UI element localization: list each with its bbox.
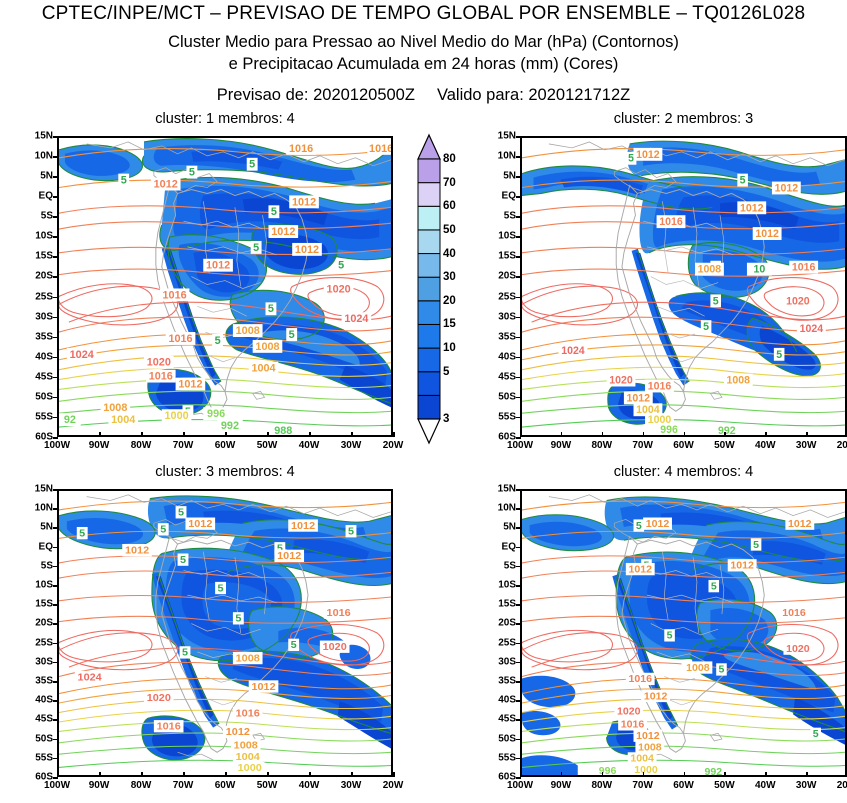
x-tick-mark (267, 772, 269, 777)
colorbar-band-80 (418, 159, 440, 183)
svg-text:1016: 1016 (149, 371, 173, 383)
y-tick-label-cluster-3-14: 55S (21, 752, 53, 763)
y-tick-mark (53, 176, 58, 178)
y-tick-label-cluster-1-6: 15S (21, 251, 53, 262)
y-tick-label-cluster-2-8: 25S (484, 291, 516, 302)
y-tick-label-cluster-2-0: 15N (484, 131, 516, 142)
x-tick-label-cluster-1-3: 70W (173, 440, 194, 451)
x-tick-label-cluster-1-0: 100W (44, 440, 70, 451)
y-tick-mark (516, 758, 521, 760)
svg-text:5: 5 (713, 295, 719, 307)
colorbar-band-30 (418, 277, 440, 301)
y-tick-label-cluster-2-3: EQ (484, 191, 516, 202)
x-tick-mark (520, 772, 522, 777)
subtitle-line-1: Cluster Medio para Pressao ao Nivel Medi… (168, 33, 679, 52)
svg-text:1008: 1008 (103, 402, 127, 414)
svg-text:1012: 1012 (277, 550, 301, 562)
svg-text:5: 5 (249, 159, 255, 171)
y-tick-label-cluster-1-0: 15N (21, 131, 53, 142)
svg-text:5: 5 (182, 647, 188, 659)
svg-text:1020: 1020 (786, 295, 810, 307)
colorbar-tick-40: 40 (443, 248, 456, 260)
y-tick-label-cluster-2-14: 55S (484, 411, 516, 422)
y-tick-label-cluster-3-6: 15S (21, 599, 53, 610)
y-tick-mark (516, 547, 521, 549)
y-tick-mark (53, 377, 58, 379)
y-tick-label-cluster-4-8: 25S (484, 637, 516, 648)
x-tick-mark (684, 432, 686, 437)
svg-text:1016: 1016 (782, 608, 806, 619)
svg-text:1020: 1020 (609, 374, 633, 386)
svg-text:1016: 1016 (628, 674, 652, 685)
x-tick-label-cluster-3-1: 90W (89, 780, 110, 791)
panel-caption-cluster-1: cluster: 1 membros: 4 (57, 111, 393, 127)
svg-text:5: 5 (215, 335, 221, 347)
x-tick-mark (141, 432, 143, 437)
colorbar-tick-15: 15 (443, 318, 456, 330)
svg-text:5: 5 (253, 242, 259, 254)
colorbar-tick-60: 60 (443, 200, 456, 212)
svg-text:5: 5 (776, 349, 782, 361)
y-tick-label-cluster-2-11: 40S (484, 351, 516, 362)
svg-text:996: 996 (660, 424, 678, 435)
colorbar-tick-20: 20 (443, 295, 456, 307)
y-tick-label-cluster-2-5: 10S (484, 231, 516, 242)
x-tick-mark (684, 772, 686, 777)
x-tick-mark (225, 772, 227, 777)
svg-text:1020: 1020 (327, 283, 351, 295)
svg-text:5: 5 (348, 526, 354, 538)
valid-for-label: Valido para: 2020121712Z (437, 86, 630, 104)
svg-text:1016: 1016 (369, 143, 391, 155)
x-tick-mark (351, 772, 353, 777)
y-tick-mark (516, 681, 521, 683)
x-tick-label-cluster-3-8: 20W (383, 780, 404, 791)
x-tick-mark (765, 432, 767, 437)
svg-text:992: 992 (704, 767, 722, 775)
x-tick-mark (309, 432, 311, 437)
svg-text:1012: 1012 (295, 244, 319, 256)
y-tick-mark (53, 662, 58, 664)
svg-text:1016: 1016 (621, 720, 645, 731)
svg-text:1016: 1016 (648, 380, 672, 392)
y-tick-label-cluster-1-14: 55S (21, 411, 53, 422)
y-tick-mark (516, 700, 521, 702)
svg-text:1008: 1008 (255, 341, 279, 353)
y-tick-mark (53, 585, 58, 587)
svg-text:1012: 1012 (154, 178, 178, 190)
y-tick-mark (516, 489, 521, 491)
svg-text:5: 5 (235, 613, 241, 625)
y-tick-label-cluster-3-12: 45S (21, 714, 53, 725)
x-tick-mark (99, 772, 101, 777)
svg-text:1008: 1008 (698, 264, 722, 276)
colorbar-band-3 (418, 395, 440, 419)
plot-panel-cluster-1[interactable]: 5 5 5 5 5 5 5 5 5 5 1016 1016 1012 1012 … (57, 136, 393, 437)
y-tick-label-cluster-1-7: 20S (21, 271, 53, 282)
colorbar-band-60 (418, 206, 440, 230)
y-tick-mark (53, 357, 58, 359)
svg-text:1012: 1012 (788, 519, 812, 530)
svg-text:92: 92 (64, 414, 76, 426)
svg-text:1012: 1012 (646, 519, 670, 530)
y-tick-mark (53, 397, 58, 399)
svg-text:1008: 1008 (236, 325, 260, 337)
y-tick-mark (516, 276, 521, 278)
x-tick-mark (393, 432, 395, 437)
y-tick-mark (53, 758, 58, 760)
y-tick-mark (53, 681, 58, 683)
y-tick-label-cluster-3-7: 20S (21, 618, 53, 629)
svg-text:1012: 1012 (636, 149, 660, 161)
svg-text:1008: 1008 (234, 740, 258, 752)
svg-text:1012: 1012 (188, 518, 212, 530)
y-tick-mark (53, 437, 58, 439)
y-tick-mark (516, 357, 521, 359)
x-tick-label-cluster-3-4: 60W (215, 780, 236, 791)
x-tick-mark (643, 772, 645, 777)
svg-text:5: 5 (667, 631, 673, 642)
svg-text:5: 5 (271, 206, 277, 218)
y-tick-label-cluster-4-10: 35S (484, 676, 516, 687)
y-tick-mark (516, 377, 521, 379)
y-tick-label-cluster-3-9: 30S (21, 656, 53, 667)
svg-text:5: 5 (121, 175, 127, 187)
y-tick-mark (53, 156, 58, 158)
x-tick-label-cluster-1-4: 60W (215, 440, 236, 451)
x-tick-mark (183, 772, 185, 777)
colorbar-band-10 (418, 348, 440, 372)
svg-text:1020: 1020 (617, 706, 641, 717)
svg-text:1024: 1024 (70, 349, 94, 361)
x-tick-mark (183, 432, 185, 437)
svg-text:5: 5 (753, 540, 759, 551)
panel-caption-cluster-4: cluster: 4 membros: 4 (520, 464, 847, 480)
svg-text:1008: 1008 (638, 742, 662, 753)
x-tick-mark (724, 432, 726, 437)
svg-text:5: 5 (628, 153, 634, 165)
page-title: CPTEC/INPE/MCT – PREVISAO DE TEMPO GLOBA… (42, 3, 805, 25)
colorbar-tick-70: 70 (443, 177, 456, 189)
x-tick-label-cluster-4-7: 30W (796, 780, 817, 791)
y-tick-mark (53, 700, 58, 702)
x-tick-mark (561, 772, 563, 777)
x-tick-mark (309, 772, 311, 777)
y-tick-label-cluster-4-5: 10S (484, 580, 516, 591)
y-tick-label-cluster-2-9: 30S (484, 311, 516, 322)
x-tick-label-cluster-4-5: 50W (714, 780, 735, 791)
x-tick-label-cluster-2-6: 40W (755, 440, 776, 451)
svg-text:992: 992 (718, 425, 736, 435)
y-tick-label-cluster-3-3: EQ (21, 541, 53, 552)
svg-text:5: 5 (180, 554, 186, 566)
x-tick-label-cluster-2-7: 30W (796, 440, 817, 451)
y-tick-label-cluster-4-2: 5N (484, 522, 516, 533)
y-tick-mark (53, 196, 58, 198)
svg-text:1016: 1016 (659, 216, 683, 228)
y-tick-mark (53, 719, 58, 721)
y-tick-label-cluster-3-0: 15N (21, 484, 53, 495)
svg-text:1004: 1004 (236, 751, 260, 763)
y-tick-mark (53, 566, 58, 568)
svg-text:1016: 1016 (163, 289, 187, 301)
x-tick-label-cluster-1-1: 90W (89, 440, 110, 451)
y-tick-mark (516, 643, 521, 645)
x-tick-label-cluster-4-1: 90W (551, 780, 572, 791)
x-tick-label-cluster-1-2: 80W (131, 440, 152, 451)
svg-text:1012: 1012 (271, 226, 295, 238)
x-tick-mark (393, 772, 395, 777)
svg-text:996: 996 (207, 408, 225, 420)
y-tick-label-cluster-2-12: 45S (484, 371, 516, 382)
y-tick-label-cluster-3-5: 10S (21, 580, 53, 591)
y-tick-mark (53, 604, 58, 606)
x-tick-label-cluster-4-0: 100W (507, 780, 533, 791)
x-tick-label-cluster-2-5: 50W (714, 440, 735, 451)
x-tick-label-cluster-3-3: 70W (173, 780, 194, 791)
x-tick-mark (57, 432, 59, 437)
colorbar-band-40 (418, 254, 440, 278)
x-tick-label-cluster-4-3: 70W (632, 780, 653, 791)
svg-text:5: 5 (636, 521, 642, 532)
svg-text:1000: 1000 (238, 762, 262, 774)
x-tick-label-cluster-3-2: 80W (131, 780, 152, 791)
y-tick-mark (53, 508, 58, 510)
svg-text:1012: 1012 (740, 202, 764, 214)
y-tick-label-cluster-3-1: 10N (21, 503, 53, 514)
svg-text:5: 5 (719, 665, 725, 676)
x-tick-label-cluster-2-3: 70W (632, 440, 653, 451)
svg-text:1020: 1020 (786, 644, 810, 655)
y-tick-mark (53, 527, 58, 529)
svg-text:1012: 1012 (775, 182, 799, 194)
y-tick-mark (516, 216, 521, 218)
x-tick-mark (141, 772, 143, 777)
svg-text:5: 5 (268, 303, 274, 315)
y-tick-label-cluster-2-7: 20S (484, 271, 516, 282)
svg-text:992: 992 (221, 420, 239, 432)
svg-text:5: 5 (79, 528, 85, 540)
y-tick-label-cluster-3-13: 50S (21, 733, 53, 744)
svg-text:5: 5 (291, 639, 297, 651)
colorbar-band-15 (418, 324, 440, 348)
svg-text:1012: 1012 (125, 545, 149, 557)
svg-text:1012: 1012 (251, 681, 275, 693)
y-tick-label-cluster-3-4: 5S (21, 560, 53, 571)
y-tick-mark (53, 739, 58, 741)
y-tick-label-cluster-1-13: 50S (21, 391, 53, 402)
panel-caption-cluster-3: cluster: 3 membros: 4 (57, 464, 393, 480)
y-tick-mark (53, 136, 58, 138)
y-tick-label-cluster-3-10: 35S (21, 676, 53, 687)
y-tick-label-cluster-3-8: 25S (21, 637, 53, 648)
y-tick-mark (516, 297, 521, 299)
x-tick-mark (643, 432, 645, 437)
y-tick-mark (53, 489, 58, 491)
x-tick-label-cluster-2-4: 60W (673, 440, 694, 451)
y-tick-mark (516, 397, 521, 399)
svg-text:1004: 1004 (111, 414, 135, 426)
forecast-dates: Previsao de: 2020120500ZValido para: 202… (217, 86, 630, 105)
y-tick-mark (516, 417, 521, 419)
y-tick-label-cluster-1-8: 25S (21, 291, 53, 302)
y-tick-label-cluster-4-1: 10N (484, 503, 516, 514)
y-tick-label-cluster-2-2: 5N (484, 171, 516, 182)
svg-text:1016: 1016 (289, 143, 313, 155)
y-tick-label-cluster-1-11: 40S (21, 351, 53, 362)
y-tick-label-cluster-1-2: 5N (21, 171, 53, 182)
x-tick-mark (225, 432, 227, 437)
x-tick-label-cluster-1-5: 50W (257, 440, 278, 451)
svg-text:1012: 1012 (206, 260, 230, 272)
x-tick-mark (351, 432, 353, 437)
colorbar-tick-10: 10 (443, 342, 456, 354)
x-tick-mark (765, 772, 767, 777)
y-tick-mark (516, 739, 521, 741)
y-tick-label-cluster-1-1: 10N (21, 151, 53, 162)
colorbar[interactable]: 51015203040506070803 (415, 133, 485, 445)
x-tick-mark (267, 432, 269, 437)
x-tick-mark (99, 432, 101, 437)
y-tick-label-cluster-1-10: 35S (21, 331, 53, 342)
y-tick-mark (516, 566, 521, 568)
x-tick-label-cluster-3-5: 50W (257, 780, 278, 791)
y-tick-mark (53, 417, 58, 419)
svg-text:5: 5 (711, 582, 717, 593)
y-tick-label-cluster-2-10: 35S (484, 331, 516, 342)
colorbar-band-50 (418, 230, 440, 254)
x-tick-mark (602, 432, 604, 437)
x-tick-mark (57, 772, 59, 777)
y-tick-mark (516, 623, 521, 625)
x-tick-label-cluster-3-6: 40W (299, 780, 320, 791)
y-tick-mark (516, 136, 521, 138)
x-tick-label-cluster-3-0: 100W (44, 780, 70, 791)
y-tick-mark (53, 216, 58, 218)
svg-text:1020: 1020 (323, 641, 347, 653)
svg-text:1012: 1012 (755, 228, 779, 240)
y-tick-label-cluster-1-5: 10S (21, 231, 53, 242)
colorbar-tick-bottom: 3 (443, 413, 449, 425)
y-tick-mark (516, 176, 521, 178)
x-tick-mark (602, 772, 604, 777)
x-tick-label-cluster-2-0: 100W (507, 440, 533, 451)
svg-text:1012: 1012 (627, 392, 651, 404)
y-tick-mark (53, 337, 58, 339)
y-tick-label-cluster-1-4: 5S (21, 211, 53, 222)
plot-panel-cluster-2[interactable]: 5 5 5 10 5 5 5 1012 1012 1016 1012 1012 … (520, 136, 847, 437)
y-tick-label-cluster-4-12: 45S (484, 714, 516, 725)
svg-text:5: 5 (218, 583, 224, 595)
plot-panel-cluster-3[interactable]: 5 5 5 5 5 5 5 5 5 5 1012 1012 1012 1012 … (57, 489, 393, 777)
y-tick-mark (516, 777, 521, 779)
y-tick-label-cluster-1-9: 30S (21, 311, 53, 322)
y-tick-label-cluster-4-3: EQ (484, 541, 516, 552)
colorbar-tick-5: 5 (443, 366, 449, 378)
panel-caption-cluster-2: cluster: 2 membros: 3 (520, 111, 847, 127)
y-tick-mark (516, 662, 521, 664)
x-tick-mark (561, 432, 563, 437)
x-tick-mark (806, 432, 808, 437)
y-tick-mark (53, 643, 58, 645)
y-tick-mark (53, 256, 58, 258)
svg-text:10: 10 (754, 264, 766, 276)
y-tick-mark (516, 527, 521, 529)
x-tick-label-cluster-4-8: 20W (837, 780, 847, 791)
colorbar-tick-80: 80 (443, 153, 456, 165)
colorbar-tick-30: 30 (443, 271, 456, 283)
y-tick-mark (53, 777, 58, 779)
x-tick-label-cluster-4-6: 40W (755, 780, 776, 791)
y-tick-label-cluster-3-2: 5N (21, 522, 53, 533)
y-tick-mark (53, 236, 58, 238)
svg-text:1008: 1008 (686, 663, 710, 674)
x-tick-label-cluster-3-7: 30W (341, 780, 362, 791)
x-tick-label-cluster-2-2: 80W (591, 440, 612, 451)
y-tick-label-cluster-4-13: 50S (484, 733, 516, 744)
y-tick-mark (516, 256, 521, 258)
y-tick-mark (516, 719, 521, 721)
y-tick-mark (53, 276, 58, 278)
y-tick-mark (53, 547, 58, 549)
y-tick-label-cluster-3-11: 40S (21, 695, 53, 706)
y-tick-mark (516, 337, 521, 339)
y-tick-label-cluster-2-6: 15S (484, 251, 516, 262)
svg-text:1016: 1016 (236, 708, 260, 720)
svg-text:1012: 1012 (226, 726, 250, 738)
svg-text:1012: 1012 (644, 691, 668, 702)
y-tick-mark (516, 437, 521, 439)
svg-text:5: 5 (703, 321, 709, 333)
y-tick-mark (516, 585, 521, 587)
colorbar-band-70 (418, 183, 440, 207)
x-tick-label-cluster-1-7: 30W (341, 440, 362, 451)
svg-text:5: 5 (813, 729, 819, 740)
svg-text:1016: 1016 (792, 262, 816, 274)
y-tick-mark (516, 604, 521, 606)
y-tick-mark (516, 508, 521, 510)
svg-text:1012: 1012 (292, 196, 316, 208)
svg-text:5: 5 (178, 507, 184, 519)
svg-text:1016: 1016 (327, 607, 351, 619)
svg-text:1008: 1008 (727, 374, 751, 386)
svg-text:1016: 1016 (168, 333, 192, 345)
svg-text:1004: 1004 (251, 363, 275, 375)
svg-text:5: 5 (160, 524, 166, 536)
y-tick-label-cluster-2-1: 10N (484, 151, 516, 162)
svg-text:5: 5 (289, 329, 295, 341)
y-tick-mark (53, 317, 58, 319)
y-tick-label-cluster-1-3: EQ (21, 191, 53, 202)
x-tick-label-cluster-4-4: 60W (673, 780, 694, 791)
y-tick-mark (516, 156, 521, 158)
svg-text:1012: 1012 (628, 564, 652, 575)
y-tick-label-cluster-4-14: 55S (484, 752, 516, 763)
y-tick-label-cluster-4-0: 15N (484, 484, 516, 495)
x-tick-mark (724, 772, 726, 777)
x-tick-label-cluster-1-8: 20W (383, 440, 404, 451)
svg-text:1024: 1024 (78, 672, 102, 684)
plot-panel-cluster-4[interactable]: 5 5 5 5 5 5 5 5 1012 1012 1012 1012 1016… (520, 489, 847, 777)
subtitle-line-2: e Precipitacao Acumulada em 24 horas (mm… (229, 55, 619, 74)
svg-text:1008: 1008 (236, 653, 260, 665)
y-tick-label-cluster-4-11: 40S (484, 695, 516, 706)
x-tick-mark (520, 432, 522, 437)
svg-text:1020: 1020 (147, 357, 171, 369)
svg-text:1024: 1024 (561, 345, 585, 357)
x-tick-label-cluster-1-6: 40W (299, 440, 320, 451)
y-tick-label-cluster-4-6: 15S (484, 599, 516, 610)
